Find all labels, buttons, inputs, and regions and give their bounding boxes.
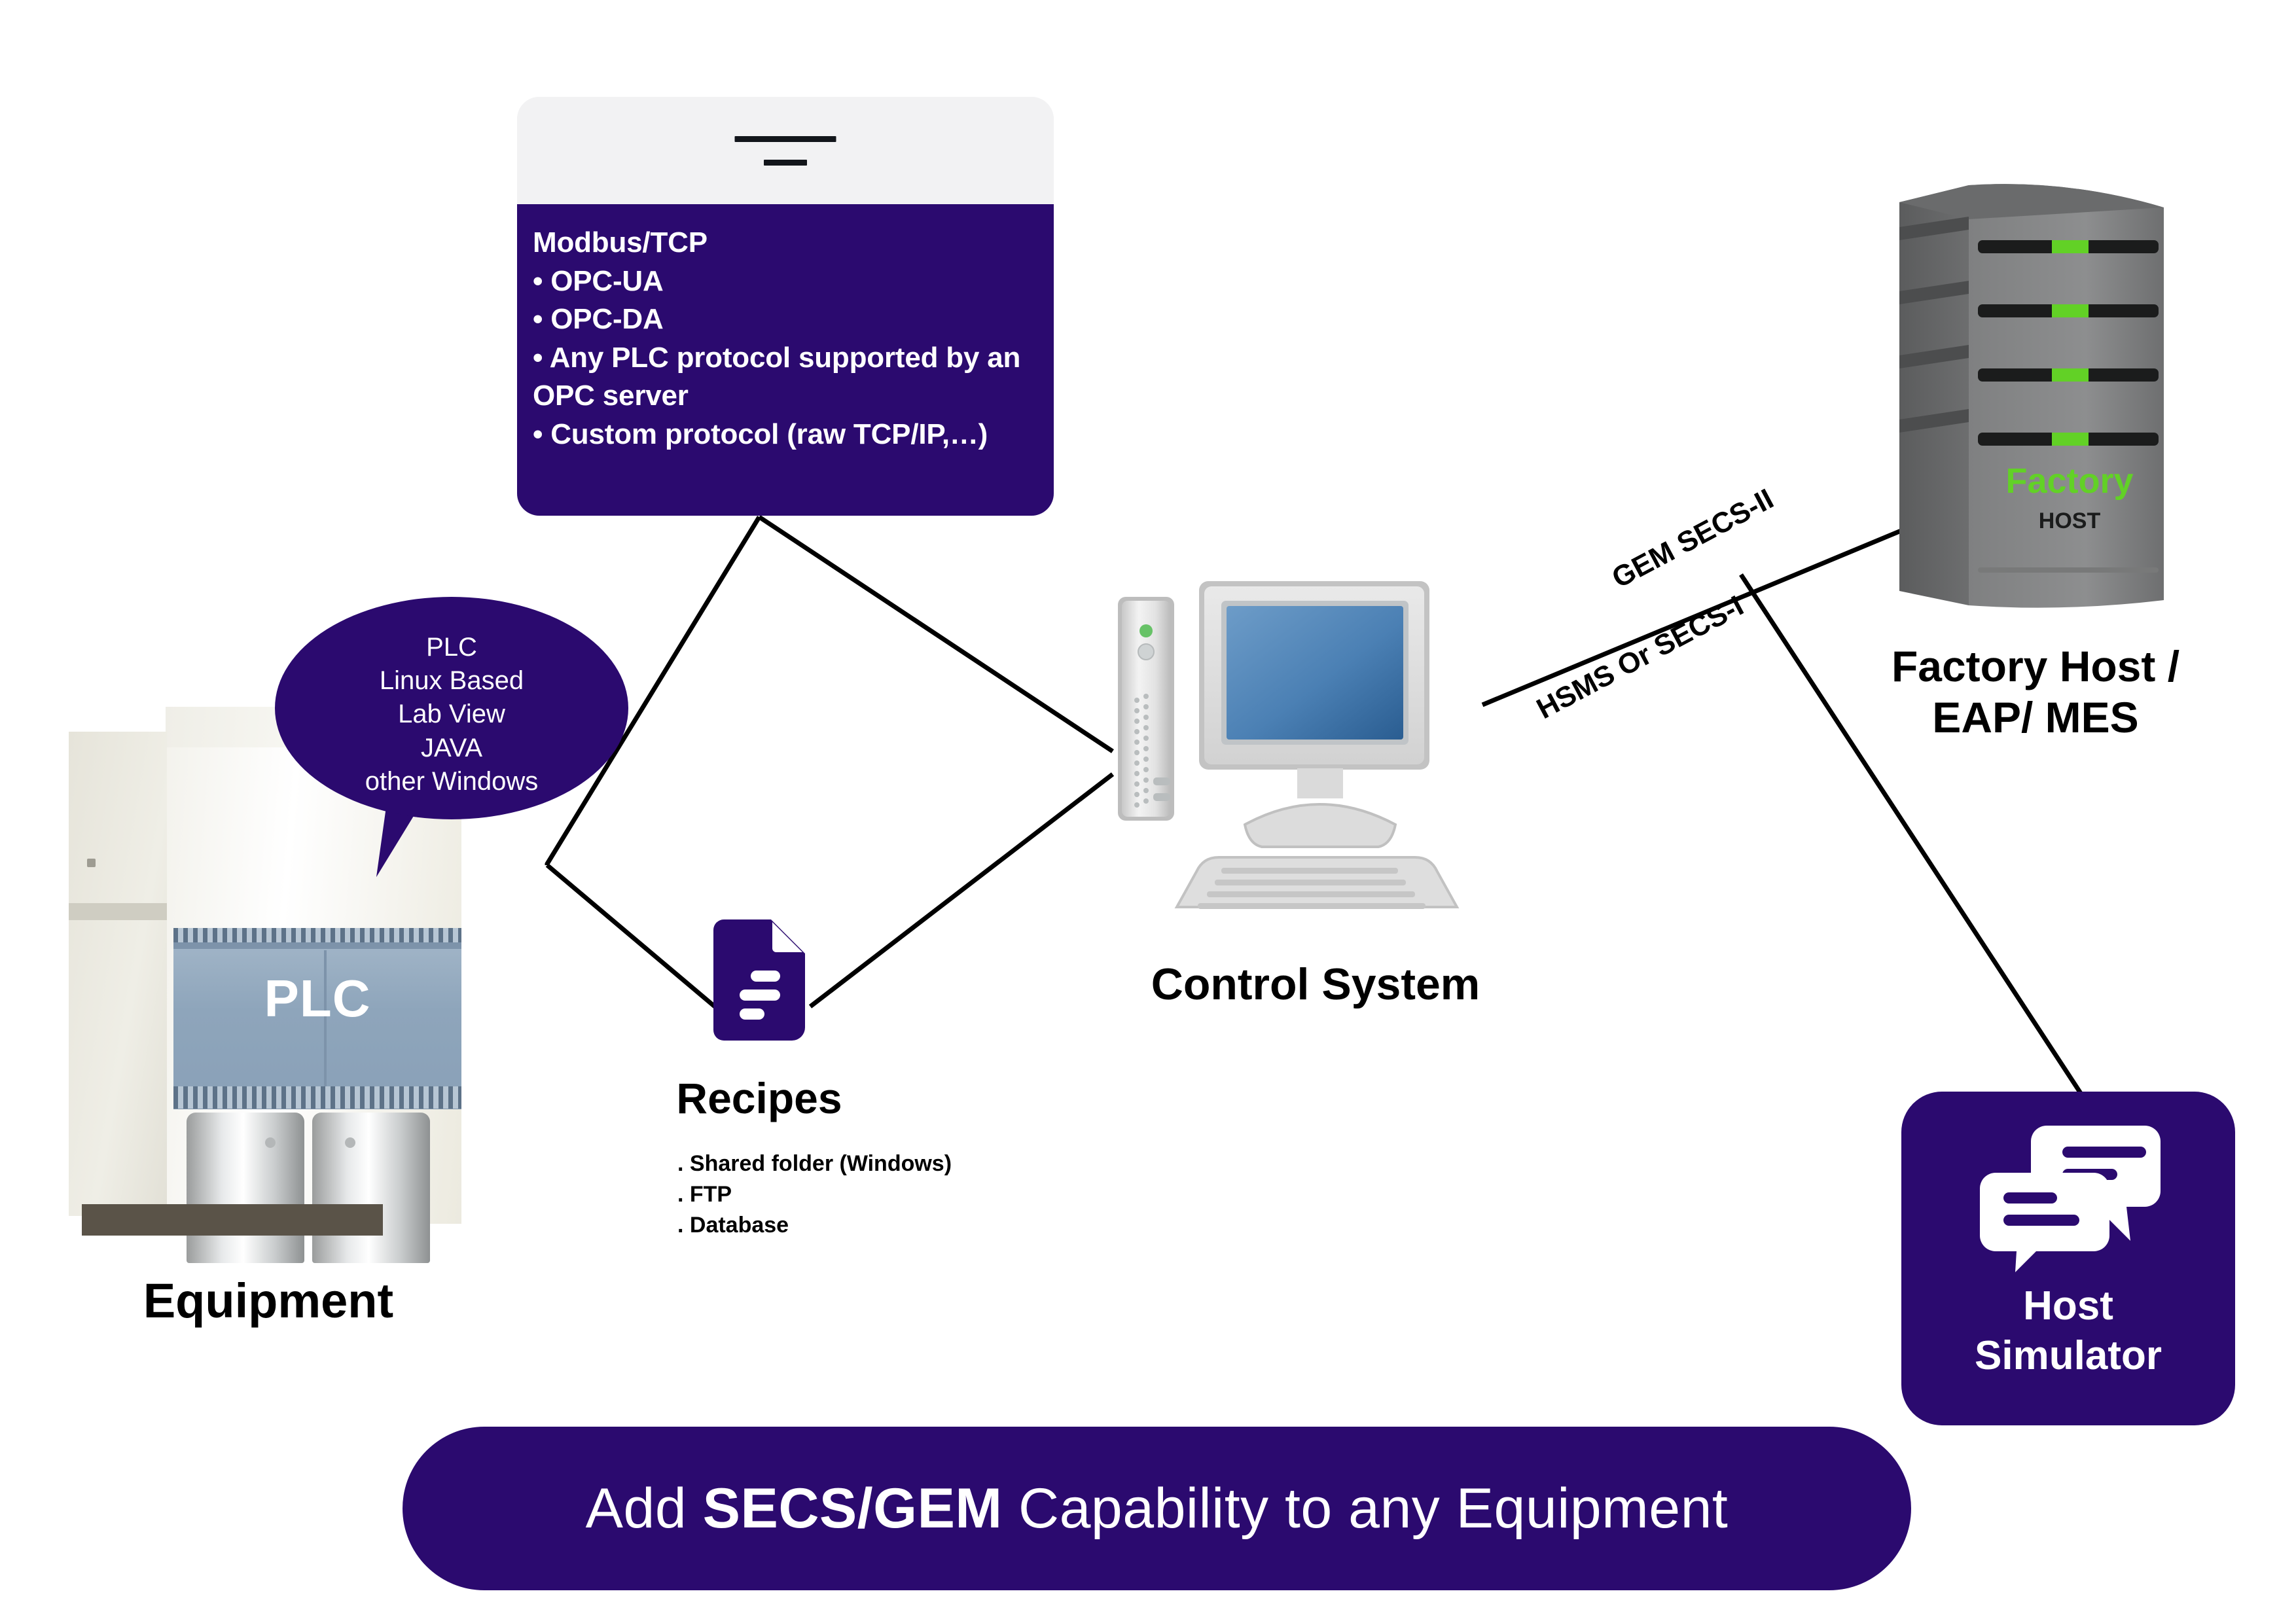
plc-terminal-strip-bottom [173, 1086, 461, 1109]
recipes-item-2: . Database [677, 1210, 1136, 1241]
banner-prefix: Add [586, 1477, 703, 1540]
equipment-side-panel [69, 732, 167, 1216]
host-simulator-label-line1: Host [1901, 1281, 2235, 1331]
cylinder-knob-icon [265, 1137, 276, 1148]
protocol-line-4: • Custom protocol (raw TCP/IP,…) [533, 416, 1038, 454]
recipes-title: Recipes [576, 1073, 942, 1123]
bubble-line-2: Lab View [275, 698, 628, 731]
recipes-item-1: . FTP [677, 1179, 1136, 1210]
banner-suffix: Capability to any Equipment [1003, 1477, 1729, 1540]
equipment-base [82, 1204, 383, 1236]
bubble-line-4: other Windows [275, 765, 628, 798]
host-simulator-label: Host Simulator [1901, 1281, 2235, 1380]
wire-card-to-control [759, 517, 1113, 751]
bottom-banner-text: Add SECS/GEM Capability to any Equipment [586, 1476, 1729, 1541]
protocol-line-3: • Any PLC protocol supported by an OPC s… [533, 339, 1038, 416]
title-bar-long-icon [735, 136, 836, 142]
protocol-line-1: • OPC-UA [533, 262, 1038, 301]
protocol-card-body: Modbus/TCP • OPC-UA • OPC-DA • Any PLC p… [517, 204, 1054, 516]
factory-host-caption-line2: EAP/ MES [1806, 692, 2265, 743]
speech-bubble-text: PLC Linux Based Lab View JAVA other Wind… [275, 631, 628, 798]
protocol-card[interactable]: Modbus/TCP • OPC-UA • OPC-DA • Any PLC p… [517, 97, 1054, 516]
bubble-line-3: JAVA [275, 732, 628, 765]
desktop-computer-icon[interactable] [1106, 569, 1512, 949]
plc-speech-bubble[interactable]: PLC Linux Based Lab View JAVA other Wind… [275, 597, 628, 872]
host-simulator-card[interactable]: Host Simulator [1901, 1092, 2235, 1425]
equipment-side-seam [69, 903, 167, 920]
protocol-card-header [517, 97, 1054, 204]
factory-host-caption-line1: Factory Host / [1806, 641, 2265, 692]
link-label-gem-secs-ii: GEM SECS-II [1607, 483, 1779, 596]
recipes-list: . Shared folder (Windows) . FTP . Databa… [677, 1149, 1136, 1241]
protocol-line-0: Modbus/TCP [533, 224, 1038, 262]
server-badge-bottom: HOST [2039, 508, 2101, 533]
equipment-caption: Equipment [65, 1273, 471, 1329]
link-label-hsms-or-secs-i: HSMS Or SECS-I [1532, 590, 1749, 726]
host-simulator-label-line2: Simulator [1901, 1331, 2235, 1381]
diagram-canvas: Modbus/TCP • OPC-UA • OPC-DA • Any PLC p… [0, 0, 2296, 1623]
wire-plc-to-recipes [547, 865, 715, 1007]
factory-host-caption: Factory Host / EAP/ MES [1806, 641, 2265, 743]
chat-bubbles-icon [1979, 1122, 2162, 1272]
cylinder-knob-icon [345, 1137, 355, 1148]
server-badge-top: Factory [2005, 461, 2133, 501]
recipes-item-0: . Shared folder (Windows) [677, 1149, 1136, 1179]
banner-emphasis: SECS/GEM [703, 1477, 1003, 1540]
control-system-caption: Control System [1060, 959, 1571, 1010]
bubble-line-0: PLC [275, 631, 628, 664]
server-tower-icon[interactable]: Factory HOST [1885, 180, 2179, 618]
equipment-cylinder-left [187, 1113, 304, 1263]
protocol-line-2: • OPC-DA [533, 300, 1038, 339]
equipment-side-latch [87, 859, 96, 867]
bubble-line-1: Linux Based [275, 664, 628, 698]
bottom-banner[interactable]: Add SECS/GEM Capability to any Equipment [403, 1427, 1911, 1590]
plc-overlay-label: PLC [173, 969, 461, 1029]
title-bar-short-icon [764, 160, 807, 166]
equipment-cylinder-right [312, 1113, 430, 1263]
document-icon[interactable] [713, 919, 805, 1041]
